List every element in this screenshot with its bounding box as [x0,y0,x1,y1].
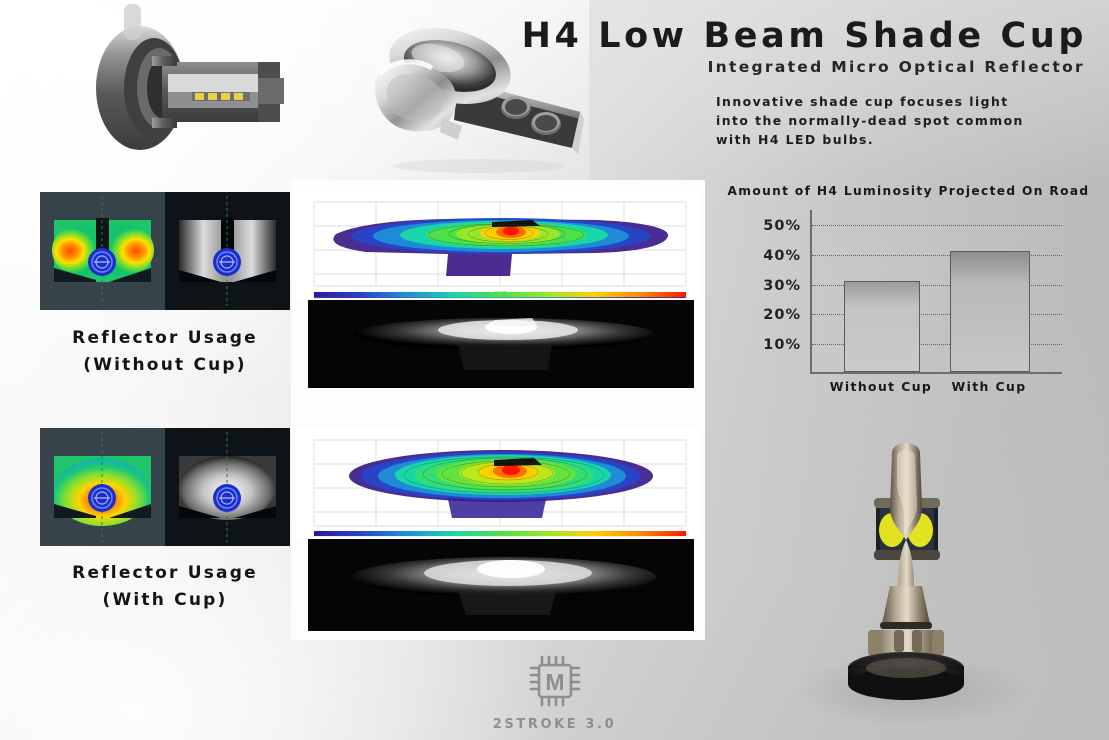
brand-name: 2STROKE 3.0 [465,717,645,732]
description-line-1: Innovative shade cup focuses light [716,92,1096,111]
ytick-label-10: 10% [763,337,801,353]
gridline-50: 50% [812,225,1062,226]
isolux-plot-without-cup: Isolux Plot [296,190,700,300]
ytick-label-20: 20% [763,307,801,323]
chart-plot-area: 10% 20% 30% 40% 50% Without Cup With Cup [810,210,1062,374]
shade-cup-photo [358,8,608,173]
bulb-with-cup-photo [800,418,1100,740]
bulb-cutaway-photo [62,0,312,181]
luminance-plot-with-cup [308,539,694,631]
color-scale-bar-with-cup [314,531,686,536]
infographic-canvas: H4 Low Beam Shade Cup Integrated Micro O… [0,0,1109,740]
beam-heatmap-without-cup [40,192,165,310]
beam-grayscale-with-cup [165,428,290,546]
caption-with-cup-line1: Reflector Usage [40,560,290,587]
page-subtitle: Integrated Micro Optical Reflector [708,58,1085,76]
color-scale-bar-without-cup [314,292,686,297]
beam-grayscale-without-cup [165,192,290,310]
chart-title: Amount of H4 Luminosity Projected On Roa… [716,184,1101,198]
ytick-label-30: 30% [763,278,801,294]
chart-y-axis [810,210,812,374]
isolux-plot-with-cup [296,428,700,540]
beam-heatmap-with-cup [40,428,165,546]
microchip-m-icon: M [528,654,582,708]
ytick-label-50: 50% [763,218,801,234]
beam-panel-without-cup [40,192,290,310]
caption-with-cup-line2: (With Cup) [40,587,290,614]
caption-without-cup: Reflector Usage (Without Cup) [40,325,290,379]
ytick-label-40: 40% [763,248,801,264]
footer-logo: M 2STROKE 3.0 [465,654,645,732]
logo-letter: M [545,669,564,695]
caption-without-cup-line2: (Without Cup) [40,352,290,379]
luminance-plot-without-cup [308,300,694,388]
beam-panel-with-cup [40,428,290,546]
xtick-label-without-cup: Without Cup [826,378,936,395]
description-line-2: into the normally-dead spot common [716,111,1096,130]
description-line-3: with H4 LED bulbs. [716,130,1096,149]
luminosity-bar-chart: Amount of H4 Luminosity Projected On Roa… [716,184,1101,406]
bar-without-cup [844,281,920,373]
xtick-label-with-cup: With Cup [934,378,1044,395]
description-text: Innovative shade cup focuses light into … [716,92,1096,149]
caption-without-cup-line1: Reflector Usage [40,325,290,352]
bar-with-cup [950,251,1030,372]
caption-with-cup: Reflector Usage (With Cup) [40,560,290,614]
chart-x-axis [810,372,1062,374]
